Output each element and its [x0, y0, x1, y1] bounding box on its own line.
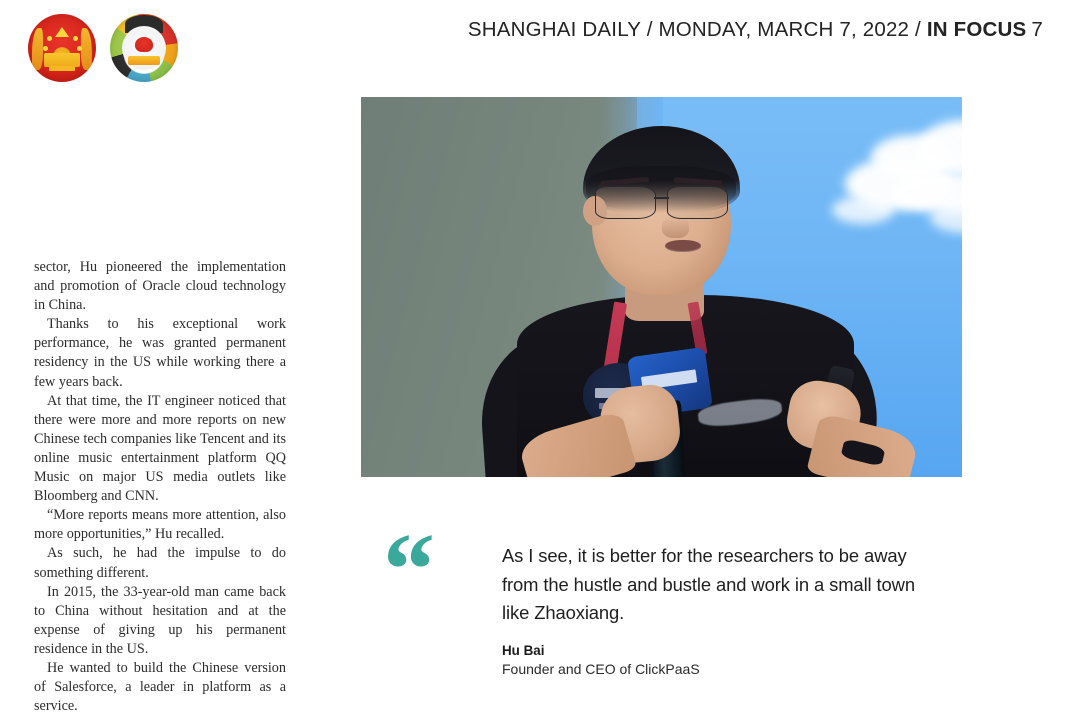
- article-paragraph: As such, he had the impulse to do someth…: [34, 544, 286, 582]
- pull-quote-text: As I see, it is better for the researche…: [502, 542, 922, 628]
- article-paragraph: sector, Hu pioneered the implementation …: [34, 258, 286, 315]
- article-text-column: sector, Hu pioneered the implementation …: [34, 258, 286, 716]
- masthead-line: SHANGHAI DAILY / MONDAY, MARCH 7, 2022 /…: [468, 18, 1043, 42]
- article-paragraph: At that time, the IT engineer noticed th…: [34, 392, 286, 507]
- pull-quote-body: As I see, it is better for the researche…: [502, 542, 922, 628]
- article-photo: [361, 97, 962, 477]
- eyeglasses: [595, 186, 727, 216]
- section-name: IN FOCUS: [927, 18, 1027, 41]
- quote-author-name: Hu Bai: [502, 642, 700, 660]
- article-paragraph: “More reports means more attention, also…: [34, 506, 286, 544]
- masthead-separator-1: /: [641, 18, 659, 41]
- article-paragraph: He wanted to build the Chinese version o…: [34, 659, 286, 716]
- publication-name: SHANGHAI DAILY: [468, 18, 641, 41]
- article-paragraph: In 2015, the 33-year-old man came back t…: [34, 583, 286, 659]
- masthead-separator-2: /: [909, 18, 927, 41]
- quotation-mark-icon: “: [383, 538, 455, 602]
- issue-date: MONDAY, MARCH 7, 2022: [658, 18, 909, 41]
- article-paragraph: Thanks to his exceptional work performan…: [34, 315, 286, 391]
- pull-quote-attribution: Hu Bai Founder and CEO of ClickPaaS: [502, 642, 700, 679]
- masthead-emblems: [28, 14, 178, 82]
- photo-subject-speaker: [361, 97, 962, 477]
- quote-author-role: Founder and CEO of ClickPaaS: [502, 660, 700, 679]
- national-emblem-of-china-icon: [28, 14, 96, 82]
- cppcc-emblem-icon: [110, 14, 178, 82]
- masthead: SHANGHAI DAILY / MONDAY, MARCH 7, 2022 /…: [0, 0, 1079, 96]
- page-number: 7: [1031, 18, 1043, 41]
